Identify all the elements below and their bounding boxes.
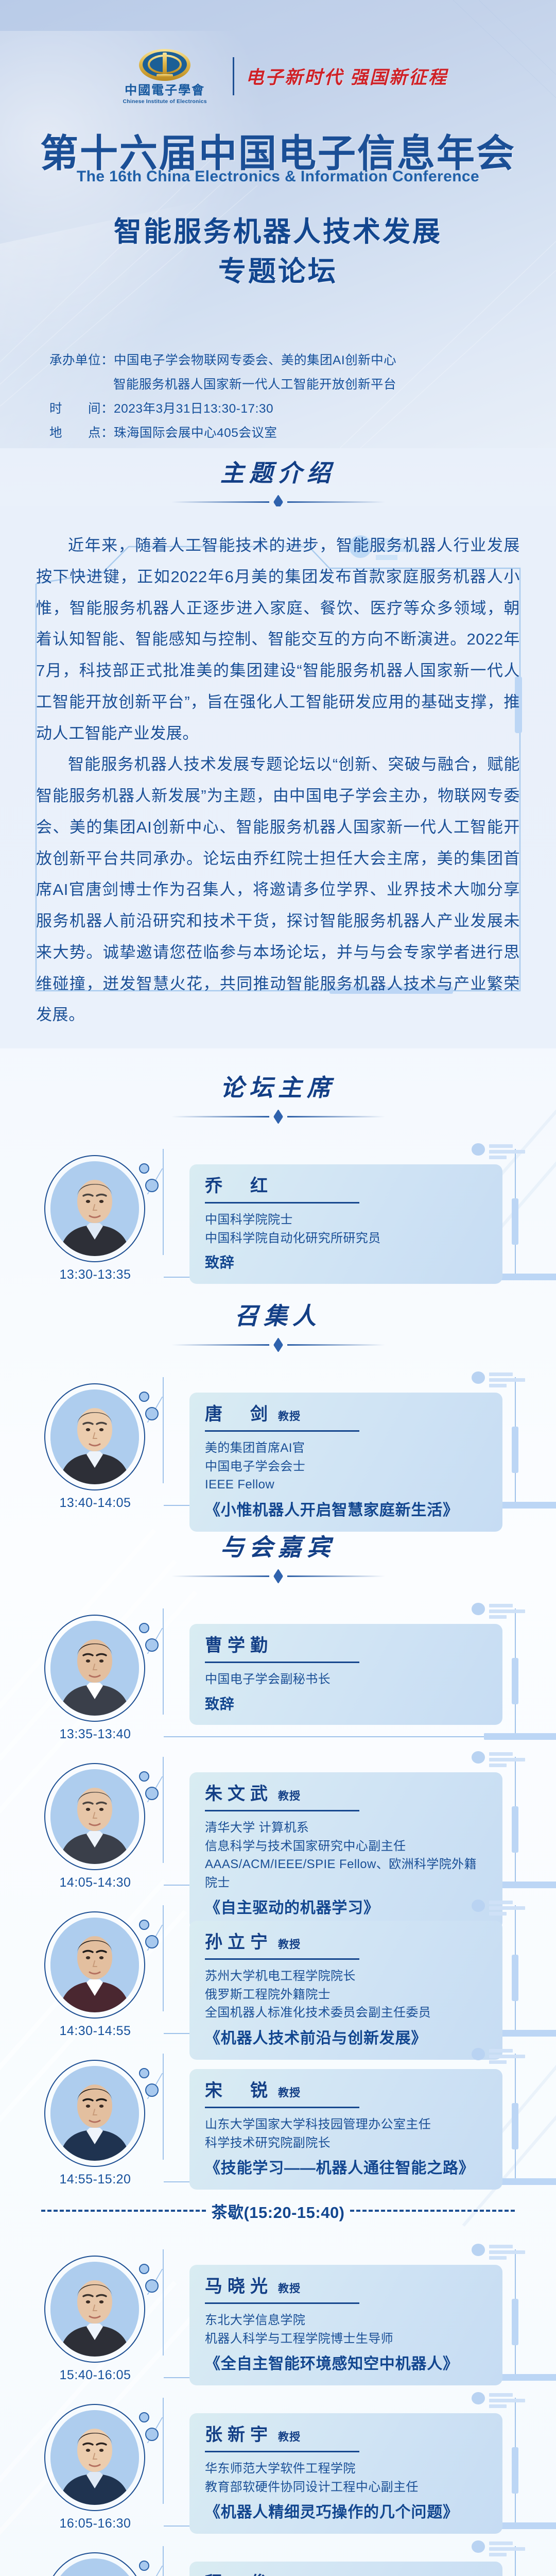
speaker-name-row: 唐 剑教授 <box>205 1405 487 1424</box>
session-time: 13:40-14:05 <box>31 1496 160 1511</box>
tea-break-divider: 茶歇(15:20-15:40) <box>0 2192 556 2230</box>
speaker-name-row: 乔 红 <box>205 1177 487 1196</box>
frame-bars-icon <box>489 1604 525 1621</box>
frame-bars-icon <box>489 2245 525 2262</box>
speaker-affiliation: 中国电子学会会士 <box>205 1458 487 1476</box>
speaker-rank: 教授 <box>278 1411 301 1422</box>
avatar-dot-small-icon <box>139 2561 149 2571</box>
speaker-affiliation: 教育部软硬件协同设计工程中心副主任 <box>205 2478 487 2497</box>
session-time: 14:05-14:30 <box>31 1875 160 1890</box>
speaker-affiliation: 华东师范大学软件工程学院 <box>205 2460 487 2478</box>
convener-list: 13:40-14:05 唐 剑教授 美的集团首席AI官中国电子学会会士IEEE … <box>0 1349 556 1515</box>
speaker-name: 张新宇 <box>205 2426 273 2445</box>
avatar-dot-small-icon <box>139 1163 149 1174</box>
frame-tick-decoration <box>512 2103 518 2149</box>
frame-tick-decoration <box>512 2447 518 2494</box>
speaker-row: 16:30-16:55 程 俊研究员 中国科学院深圳先进技术研究院人机após智… <box>0 2539 556 2576</box>
section-ornament <box>0 498 556 506</box>
speaker-affiliations: 山东大学国家大学科技园管理办公室主任科学技术研究院副院长 <box>205 2115 487 2152</box>
avatar-dot-small-icon <box>139 2264 149 2274</box>
ornament-left-line <box>171 501 269 503</box>
frame-tick-decoration <box>512 1955 518 2001</box>
avatar-dot-large-icon <box>145 2083 159 2097</box>
session-time: 13:35-13:40 <box>31 1727 160 1742</box>
speaker-topic: 《机器人技术前沿与创新发展》 <box>205 2028 487 2048</box>
speaker-affiliations: 华东师范大学软件工程学院教育部软硬件协同设计工程中心副主任 <box>205 2460 487 2496</box>
session-time: 15:40-16:05 <box>31 2368 160 2383</box>
frame-tick-decoration <box>512 1658 518 1704</box>
header-slogan: 电子新时代 强国新征程 <box>246 63 448 89</box>
avatar <box>50 1161 139 1256</box>
speaker-affiliations: 苏州大学机电工程学院院长俄罗斯工程院外籍院士全国机器人标准化技术委员会副主任委员 <box>205 1967 487 2022</box>
section-guests-heading: 与会嘉宾 <box>0 1515 556 1581</box>
speaker-affiliation: 清华大学 计算机系 <box>205 1819 487 1837</box>
frame-tick-decoration <box>512 1806 518 1853</box>
poster-body: 主题介绍 近年来，随着人工智能技术的进步，智能服务机器人行业发展按下快进 <box>0 448 556 2576</box>
frame-tick-decoration <box>512 1427 518 1473</box>
speaker-name: 曹学勤 <box>205 1636 273 1655</box>
speaker-avatar-group <box>44 1383 147 1493</box>
speaker-avatar-group <box>44 1763 147 1872</box>
speaker-affiliations: 清华大学 计算机系信息科学与技术国家研究中心副主任AAAS/ACM/IEEE/S… <box>205 1819 487 1892</box>
conference-title-en: The 16th China Electronics & Information… <box>0 168 556 185</box>
ornament-right-line <box>287 1344 385 1346</box>
card-rule <box>205 2451 359 2452</box>
speaker-affiliation: 美的集团首席AI官 <box>205 1439 487 1458</box>
section-ornament <box>0 1112 556 1121</box>
speaker-row: 14:55-15:20 宋 锐教授 山东大学国家大学科技园管理办公室主任科学技术… <box>0 2046 556 2192</box>
section-title-convener: 召集人 <box>0 1304 556 1328</box>
cie-logo: 中國電子學會 Chinese Institute of Electronics <box>108 47 221 105</box>
forum-title-line2: 专题论坛 <box>0 252 556 292</box>
avatar-dot-small-icon <box>139 1623 149 1633</box>
speaker-topic: 致辞 <box>205 1253 487 1272</box>
ornament-left-line <box>171 1344 269 1346</box>
card-rule <box>205 1810 359 1811</box>
guest-list: 13:35-13:40 曹学勤 中国电子学会副秘书长 致辞 <box>0 1581 556 2192</box>
meta-time: 时 间：2023年3月31日13:30-17:30 <box>49 397 523 421</box>
speaker-row: 14:30-14:55 孙立宁教授 苏州大学机电工程学院院长俄罗斯工程院外籍院士… <box>0 1898 556 2043</box>
speaker-affiliation: 全国机器人标准化技术委员会副主任委员 <box>205 2004 487 2022</box>
tea-break-line-left <box>41 2210 206 2212</box>
frame-bars-icon <box>489 1372 525 1389</box>
session-time: 16:05-16:30 <box>31 2516 160 2531</box>
ornament-right-line <box>287 1575 385 1577</box>
card-rule <box>205 1958 359 1960</box>
speaker-rank: 教授 <box>278 2087 301 2099</box>
speaker-rank: 教授 <box>278 1790 301 1802</box>
frame-node-icon <box>472 1603 485 1615</box>
speaker-card: 唐 剑教授 美的集团首席AI官中国电子学会会士IEEE Fellow 《小惟机器… <box>189 1393 502 1532</box>
section-ornament <box>0 1341 556 1349</box>
speaker-avatar-group <box>44 2552 147 2576</box>
avatar-dot-large-icon <box>145 2279 159 2293</box>
speaker-topic: 《技能学习——机器人通往智能之路》 <box>205 2158 487 2178</box>
frame-bars-icon <box>489 1901 525 1918</box>
frame-corner-cut <box>147 2566 188 2576</box>
speaker-name-row: 张新宇教授 <box>205 2426 487 2445</box>
speaker-affiliations: 美的集团首席AI官中国电子学会会士IEEE Fellow <box>205 1439 487 1494</box>
speaker-row: 13:35-13:40 曹学勤 中国电子学会副秘书长 致辞 <box>0 1601 556 1747</box>
frame-node-icon <box>472 2392 485 2404</box>
intro-paragraph-1: 近年来，随着人工智能技术的进步，智能服务机器人行业发展按下快进键，正如2022年… <box>36 530 520 749</box>
frame-bars-icon <box>489 2049 525 2066</box>
section-chair-heading: 论坛主席 <box>0 1048 556 1121</box>
avatar-dot-large-icon <box>145 1638 159 1652</box>
speaker-name-row: 朱文武教授 <box>205 1785 487 1804</box>
avatar <box>50 1769 139 1864</box>
speaker-row: 13:30-13:35 乔 红 中国科学院院士中国科学院自动化研究所研究员 致辞 <box>0 1142 556 1287</box>
poster-header: 中國電子學會 Chinese Institute of Electronics … <box>0 0 556 448</box>
speaker-avatar-group <box>44 1615 147 1724</box>
avatar <box>50 1918 139 2012</box>
speaker-name: 宋 锐 <box>205 2081 273 2100</box>
speaker-avatar-group <box>44 2060 147 2169</box>
speaker-name: 乔 红 <box>205 1177 273 1196</box>
section-convener-heading: 召集人 <box>0 1287 556 1349</box>
speaker-name: 唐 剑 <box>205 1405 273 1424</box>
avatar-dot-large-icon <box>145 1179 159 1192</box>
speaker-affiliation: 中国科学院院士 <box>205 1211 487 1229</box>
frame-tick-decoration <box>512 2299 518 2345</box>
speaker-card: 乔 红 中国科学院院士中国科学院自动化研究所研究员 致辞 <box>189 1164 502 1284</box>
speaker-rank: 教授 <box>278 1939 301 1951</box>
speaker-rank: 教授 <box>278 2431 301 2443</box>
avatar-dot-large-icon <box>145 1787 159 1800</box>
ornament-left-line <box>171 1116 269 1117</box>
avatar <box>50 2066 139 2161</box>
speaker-affiliation: 中国电子学会副秘书长 <box>205 1670 487 1689</box>
avatar-dot-small-icon <box>139 2412 149 2422</box>
ornament-right-line <box>287 501 385 503</box>
speaker-affiliation: 科学技术研究院副院长 <box>205 2134 487 2153</box>
frame-bars-icon <box>489 1752 525 1769</box>
intro-paragraph-2: 智能服务机器人技术发展专题论坛以“创新、突破与融合，赋能智能服务机器人新发展”为… <box>36 749 520 1031</box>
speaker-rank: 教授 <box>278 2283 301 2295</box>
meta-host: 承办单位：中国电子学会物联网专委会、美的集团AI创新中心 <box>49 348 523 372</box>
forum-title: 智能服务机器人技术发展 专题论坛 <box>0 212 556 291</box>
speaker-name-row: 程 俊研究员 <box>205 2574 487 2576</box>
speaker-affiliation: 中国科学院自动化研究所研究员 <box>205 1229 487 1248</box>
speaker-topic: 《全自主智能环境感知空中机器人》 <box>205 2354 487 2374</box>
avatar-dot-small-icon <box>139 2068 149 2078</box>
guest-list-after-break: 15:40-16:05 马晓光教授 东北大学信息学院机器人科学与工程学院博士生导… <box>0 2230 556 2576</box>
brand-bar: 中國電子學會 Chinese Institute of Electronics … <box>0 47 556 105</box>
speaker-row: 13:40-14:05 唐 剑教授 美的集团首席AI官中国电子学会会士IEEE … <box>0 1370 556 1515</box>
speaker-avatar-group <box>44 1155 147 1264</box>
section-intro-heading: 主题介绍 <box>0 448 556 506</box>
frame-node-icon <box>472 1900 485 1912</box>
speaker-avatar-group <box>44 2404 147 2513</box>
brand-divider <box>233 57 234 95</box>
speaker-card: 马晓光教授 东北大学信息学院机器人科学与工程学院博士生导师 《全自主智能环境感知… <box>189 2265 502 2385</box>
cie-name-cn: 中國電子學會 <box>125 84 205 97</box>
cie-emblem-icon <box>137 47 193 83</box>
chair-list: 13:30-13:35 乔 红 中国科学院院士中国科学院自动化研究所研究员 致辞 <box>0 1121 556 1287</box>
avatar-dot-large-icon <box>145 1407 159 1420</box>
speaker-card: 程 俊研究员 中国科学院深圳先进技术研究院人机após智能研发室主任 《人体运动… <box>189 2562 502 2576</box>
avatar-dot-small-icon <box>139 1771 149 1782</box>
card-rule <box>205 1430 359 1432</box>
section-title-chair: 论坛主席 <box>0 1076 556 1100</box>
section-ornament <box>0 1572 556 1581</box>
speaker-affiliation: 机器人科学与工程学院博士生导师 <box>205 2330 487 2348</box>
speaker-affiliation: 信息科学与技术国家研究中心副主任 <box>205 1837 487 1856</box>
speaker-card: 张新宇教授 华东师范大学软件工程学院教育部软硬件协同设计工程中心副主任 《机器人… <box>189 2413 502 2534</box>
avatar <box>50 1389 139 1484</box>
frame-node-icon <box>472 2244 485 2256</box>
speaker-name: 孙立宁 <box>205 1933 273 1952</box>
forum-title-line1: 智能服务机器人技术发展 <box>0 212 556 252</box>
section-title-intro: 主题介绍 <box>0 462 556 485</box>
frame-tick-decoration <box>512 1198 518 1245</box>
speaker-avatar-group <box>44 2256 147 2365</box>
speaker-name: 马晓光 <box>205 2277 273 2296</box>
speaker-affiliation: 山东大学国家大学科技园管理办公室主任 <box>205 2115 487 2134</box>
tea-break-label: 茶歇(15:20-15:40) <box>211 2199 344 2223</box>
speaker-name-row: 孙立宁教授 <box>205 1933 487 1952</box>
avatar-dot-large-icon <box>145 2428 159 2441</box>
card-rule <box>205 2302 359 2304</box>
session-time: 14:30-14:55 <box>31 2024 160 2039</box>
intro-panel: 近年来，随着人工智能技术的进步，智能服务机器人行业发展按下快进键，正如2022年… <box>0 506 556 1048</box>
avatar-dot-small-icon <box>139 1392 149 1402</box>
speaker-affiliation: IEEE Fellow <box>205 1476 487 1494</box>
ornament-right-line <box>287 1116 385 1117</box>
speaker-affiliations: 东北大学信息学院机器人科学与工程学院博士生导师 <box>205 2311 487 2348</box>
card-rule <box>205 2107 359 2108</box>
avatar <box>50 2410 139 2505</box>
tea-break-line-right <box>350 2210 515 2212</box>
speaker-name: 程 俊 <box>205 2574 273 2576</box>
speaker-avatar-group <box>44 1911 147 2021</box>
session-time: 14:55-15:20 <box>31 2172 160 2187</box>
speaker-name-row: 曹学勤 <box>205 1636 487 1655</box>
avatar <box>50 1621 139 1716</box>
frame-chip-decoration <box>484 1733 556 1740</box>
frame-bars-icon <box>489 1144 525 1161</box>
frame-bars-icon <box>489 2541 525 2558</box>
section-title-guests: 与会嘉宾 <box>0 1536 556 1560</box>
frame-node-icon <box>472 1143 485 1156</box>
speaker-name: 朱文武 <box>205 1785 273 1804</box>
speaker-affiliation: 东北大学信息学院 <box>205 2311 487 2330</box>
cie-name-en: Chinese Institute of Electronics <box>123 98 206 105</box>
speaker-row: 14:05-14:30 朱文武教授 清华大学 计算机系信息科学与技术国家研究中心… <box>0 1750 556 1895</box>
poster-root: 中國電子學會 Chinese Institute of Electronics … <box>0 0 556 2576</box>
event-meta: 承办单位：中国电子学会物联网专委会、美的集团AI创新中心 智能服务机器人国家新一… <box>49 348 523 445</box>
speaker-row: 16:05-16:30 张新宇教授 华东师范大学软件工程学院教育部软硬件协同设计… <box>0 2391 556 2536</box>
card-rule <box>205 1662 359 1663</box>
card-rule <box>205 1202 359 1204</box>
intro-text: 近年来，随着人工智能技术的进步，智能服务机器人行业发展按下快进键，正如2022年… <box>36 530 520 1031</box>
meta-host-line2: 智能服务机器人国家新一代人工智能开放创新平台 <box>49 372 523 397</box>
session-time: 13:30-13:35 <box>31 1267 160 1282</box>
speaker-name-row: 马晓光教授 <box>205 2277 487 2296</box>
frame-bars-icon <box>489 2393 525 2410</box>
speaker-card: 宋 锐教授 山东大学国家大学科技园管理办公室主任科学技术研究院副院长 《技能学习… <box>189 2069 502 2190</box>
avatar <box>50 2262 139 2357</box>
frame-node-icon <box>472 2048 485 2060</box>
speaker-card: 曹学勤 中国电子学会副秘书长 致辞 <box>189 1624 502 1725</box>
meta-place: 地 点：珠海国际会展中心405会议室 <box>49 421 523 445</box>
speaker-topic: 致辞 <box>205 1695 487 1714</box>
frame-node-icon <box>472 1751 485 1764</box>
speaker-name-row: 宋 锐教授 <box>205 2081 487 2100</box>
avatar-dot-small-icon <box>139 1920 149 1930</box>
speaker-affiliations: 中国科学院院士中国科学院自动化研究所研究员 <box>205 1211 487 1247</box>
speaker-topic: 《机器人精细灵巧操作的几个问题》 <box>205 2502 487 2522</box>
ornament-left-line <box>171 1575 269 1577</box>
speaker-row: 15:40-16:05 马晓光教授 东北大学信息学院机器人科学与工程学院博士生导… <box>0 2242 556 2387</box>
speaker-affiliation: 俄罗斯工程院外籍院士 <box>205 1986 487 2004</box>
speaker-affiliation: AAAS/ACM/IEEE/SPIE Fellow、欧洲科学院外籍院士 <box>205 1855 487 1892</box>
speaker-affiliation: 苏州大学机电工程学院院长 <box>205 1967 487 1986</box>
speaker-card: 孙立宁教授 苏州大学机电工程学院院长俄罗斯工程院外籍院士全国机器人标准化技术委员… <box>189 1921 502 2060</box>
speaker-affiliations: 中国电子学会副秘书长 <box>205 1670 487 1689</box>
frame-node-icon <box>472 1371 485 1384</box>
avatar-dot-large-icon <box>145 1935 159 1948</box>
frame-node-icon <box>472 2540 485 2553</box>
